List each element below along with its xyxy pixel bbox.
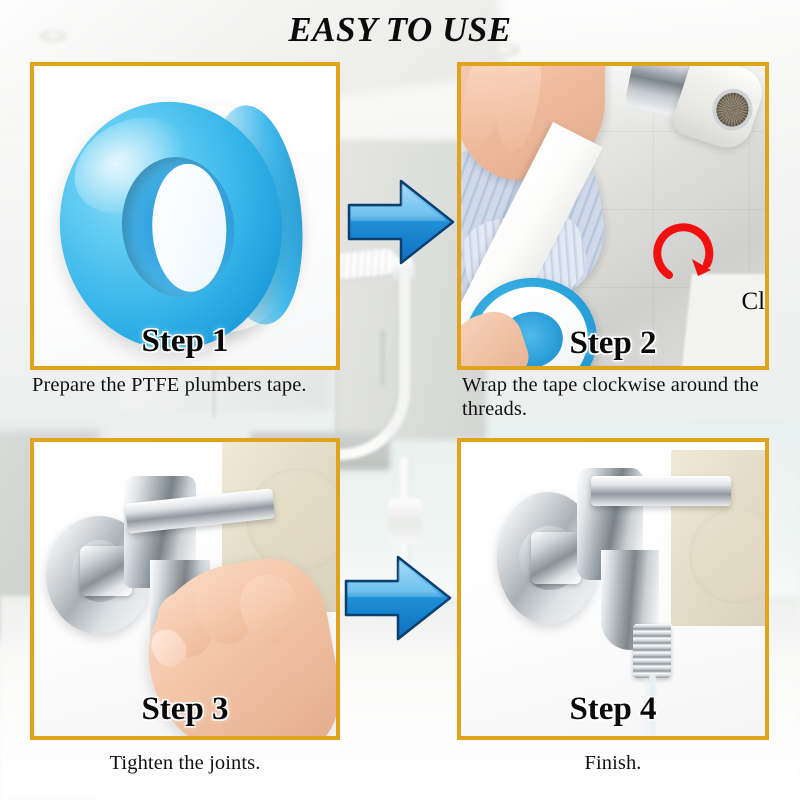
step-2-image: Clockwise	[461, 66, 765, 366]
step-4-panel: Step 4	[457, 438, 769, 740]
clockwise-rotation-arrow-icon	[651, 214, 725, 288]
step-4-caption: Finish.	[457, 752, 769, 776]
faucet-spout-tip	[633, 624, 671, 678]
step-1-panel: Step 1	[30, 62, 340, 370]
running-water-stream	[649, 674, 656, 736]
step-1-caption: Prepare the PTFE plumbers tape.	[32, 374, 352, 398]
running-water-stream	[645, 678, 648, 736]
faucet-lever-handle	[591, 476, 731, 506]
finger	[489, 66, 544, 154]
step-2-panel: Clockwise Step 2	[457, 62, 769, 370]
faucet-hex-nut	[531, 532, 581, 584]
right-arrow-icon	[342, 548, 454, 648]
right-arrow-icon	[345, 172, 457, 272]
clockwise-annotation-label: Clockwise	[741, 288, 765, 316]
infographic-root: EASY TO USE Step 1 Prepare the PTFE plum…	[0, 0, 800, 800]
step-2-caption: Wrap the tape clockwise around the threa…	[462, 374, 782, 422]
ptfe-tape-roll	[48, 87, 328, 362]
page-title: EASY TO USE	[0, 10, 800, 50]
step-4-image	[461, 442, 765, 736]
step-3-caption: Tighten the joints.	[30, 752, 340, 776]
hose-valve	[388, 498, 422, 544]
step-3-image	[34, 442, 336, 736]
faucet-aerator-mesh	[707, 84, 758, 136]
step-1-image	[34, 66, 336, 366]
step-3-panel: Step 3	[30, 438, 340, 740]
